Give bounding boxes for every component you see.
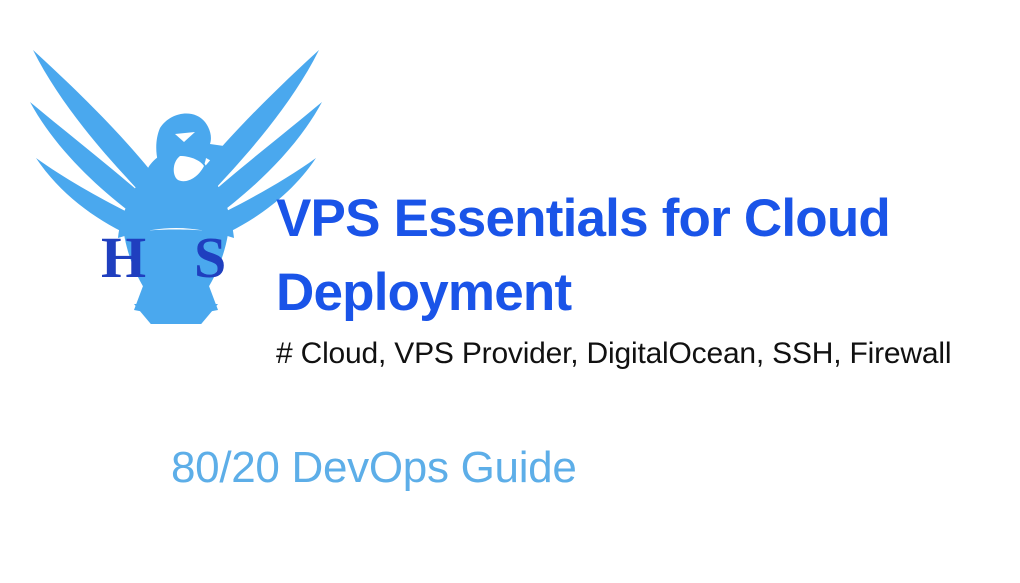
page-tagline: 80/20 DevOps Guide [171, 440, 577, 496]
page-subtitle-tags: # Cloud, VPS Provider, DigitalOcean, SSH… [276, 333, 966, 375]
logo-letter-h: H [101, 229, 146, 287]
title-slide: H S VPS Essentials for Cloud Deployment … [0, 0, 1020, 583]
logo-letter-s: S [194, 229, 226, 287]
page-title: VPS Essentials for Cloud Deployment [276, 182, 956, 330]
